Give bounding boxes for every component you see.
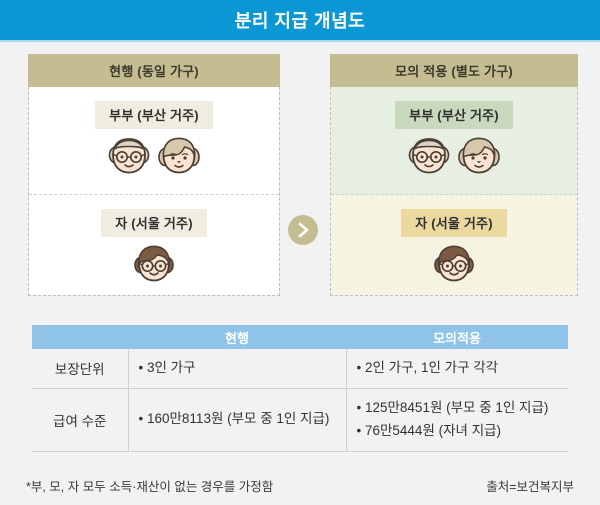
cell-simulated-coverage-unit: • 2인 가구, 1인 가구 각각 xyxy=(346,349,568,388)
footnote: *부, 모, 자 모두 소득·재산이 없는 경우를 가정함 xyxy=(26,476,273,495)
chevron-right-icon xyxy=(288,215,318,245)
panel-simulated-body: 부부 (부산 거주) xyxy=(330,87,578,296)
panel-current-body: 부부 (부산 거주) xyxy=(28,87,280,296)
panel-simulated: 모의 적용 (별도 가구) 부부 (부산 거주) xyxy=(330,54,578,296)
cell-current-coverage-unit: • 3인 가구 xyxy=(128,349,346,388)
row-label-coverage-unit: 보장단위 xyxy=(32,349,128,388)
comparison-table: 현행 모의적용 보장단위 • 3인 가구 • 2인 가구, 1인 가구 각각 급… xyxy=(32,325,568,452)
table-header-blank xyxy=(32,325,128,349)
source-label: 출처=보건복지부 xyxy=(486,476,574,495)
table-header-current: 현행 xyxy=(128,325,346,349)
elderly-man-face-icon xyxy=(407,135,451,177)
concept-diagram: 현행 (동일 가구) 부부 (부산 거주) xyxy=(0,42,600,312)
panel-simulated-couple-label: 부부 (부산 거주) xyxy=(395,101,513,129)
cell-simulated-benefit-level: • 125만8451원 (부모 중 1인 지급) • 76만5444원 (자녀 … xyxy=(346,388,568,451)
panel-simulated-couple-figures xyxy=(331,135,577,177)
row-label-benefit-level: 급여 수준 xyxy=(32,388,128,451)
title-bar: 분리 지급 개념도 xyxy=(0,0,600,42)
table-header-simulated: 모의적용 xyxy=(346,325,568,349)
panel-current: 현행 (동일 가구) 부부 (부산 거주) xyxy=(28,54,280,296)
elderly-woman-face-icon xyxy=(457,135,501,177)
panel-simulated-couple-section: 부부 (부산 거주) xyxy=(331,87,577,195)
panel-simulated-header: 모의 적용 (별도 가구) xyxy=(330,54,578,87)
child-face-icon xyxy=(132,243,176,285)
panel-current-couple-section: 부부 (부산 거주) xyxy=(29,87,279,195)
table-row: 급여 수준 • 160만8113원 (부모 중 1인 지급) • 125만845… xyxy=(32,388,568,451)
table-header-row: 현행 모의적용 xyxy=(32,325,568,349)
page-title: 분리 지급 개념도 xyxy=(235,7,365,33)
elderly-woman-face-icon xyxy=(157,135,201,177)
footer: *부, 모, 자 모두 소득·재산이 없는 경우를 가정함 출처=보건복지부 xyxy=(0,466,600,505)
panel-current-child-section: 자 (서울 거주) xyxy=(29,195,279,295)
panel-current-couple-label: 부부 (부산 거주) xyxy=(95,101,213,129)
panel-simulated-child-label: 자 (서울 거주) xyxy=(401,209,506,237)
panel-current-child-label: 자 (서울 거주) xyxy=(101,209,206,237)
panel-current-couple-figures xyxy=(29,135,279,177)
panel-simulated-child-section: 자 (서울 거주) xyxy=(331,195,577,295)
child-face-icon xyxy=(432,243,476,285)
elderly-man-face-icon xyxy=(107,135,151,177)
cell-current-benefit-level: • 160만8113원 (부모 중 1인 지급) xyxy=(128,388,346,451)
panel-current-header: 현행 (동일 가구) xyxy=(28,54,280,87)
panel-simulated-child-figures xyxy=(331,243,577,285)
table-row: 보장단위 • 3인 가구 • 2인 가구, 1인 가구 각각 xyxy=(32,349,568,388)
panel-current-child-figures xyxy=(29,243,279,285)
